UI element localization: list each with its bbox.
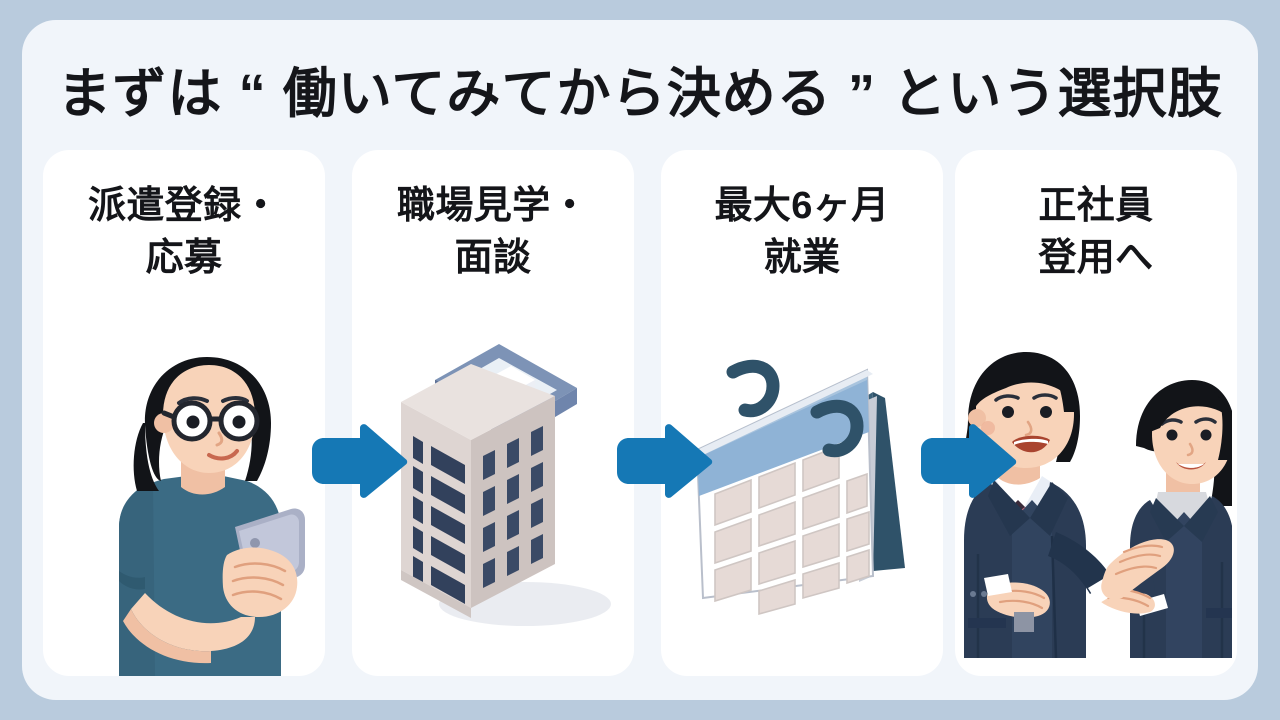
step-1-label: 派遣登録・ 応募 [43, 180, 325, 284]
person-with-smartphone-icon [43, 316, 325, 676]
step-4-label-line1: 正社員 [955, 180, 1237, 232]
content-panel: まずは “ 働いてみてから決める ” という選択肢 派遣登録・ 応募 [22, 20, 1258, 700]
right-arrow-icon-3 [919, 424, 1017, 498]
step-2-label: 職場見学・ 面談 [352, 180, 634, 284]
step-card-1[interactable]: 派遣登録・ 応募 [43, 150, 325, 676]
page-title: まずは “ 働いてみてから決める ” という選択肢 [22, 62, 1258, 126]
step-card-3[interactable]: 最大6ヶ月 就業 [661, 150, 943, 676]
step-card-2[interactable]: 職場見学・ 面談 [352, 150, 634, 676]
step-3-label-line1: 最大6ヶ月 [661, 180, 943, 232]
step-2-label-line1: 職場見学・ [352, 180, 634, 232]
infographic-root: まずは “ 働いてみてから決める ” という選択肢 派遣登録・ 応募 [0, 0, 1280, 720]
step-4-label-line2: 登用へ [955, 232, 1237, 284]
step-card-4[interactable]: 正社員 登用へ [955, 150, 1237, 676]
step-2-label-line2: 面談 [352, 232, 634, 284]
right-arrow-icon-1 [310, 424, 408, 498]
step-1-label-line1: 派遣登録・ [43, 180, 325, 232]
step-4-label: 正社員 登用へ [955, 180, 1237, 284]
step-3-label-line2: 就業 [661, 232, 943, 284]
process-flow-steps: 派遣登録・ 応募 [43, 150, 1237, 676]
step-3-label: 最大6ヶ月 就業 [661, 180, 943, 284]
right-arrow-icon-2 [615, 424, 713, 498]
step-1-label-line2: 応募 [43, 232, 325, 284]
